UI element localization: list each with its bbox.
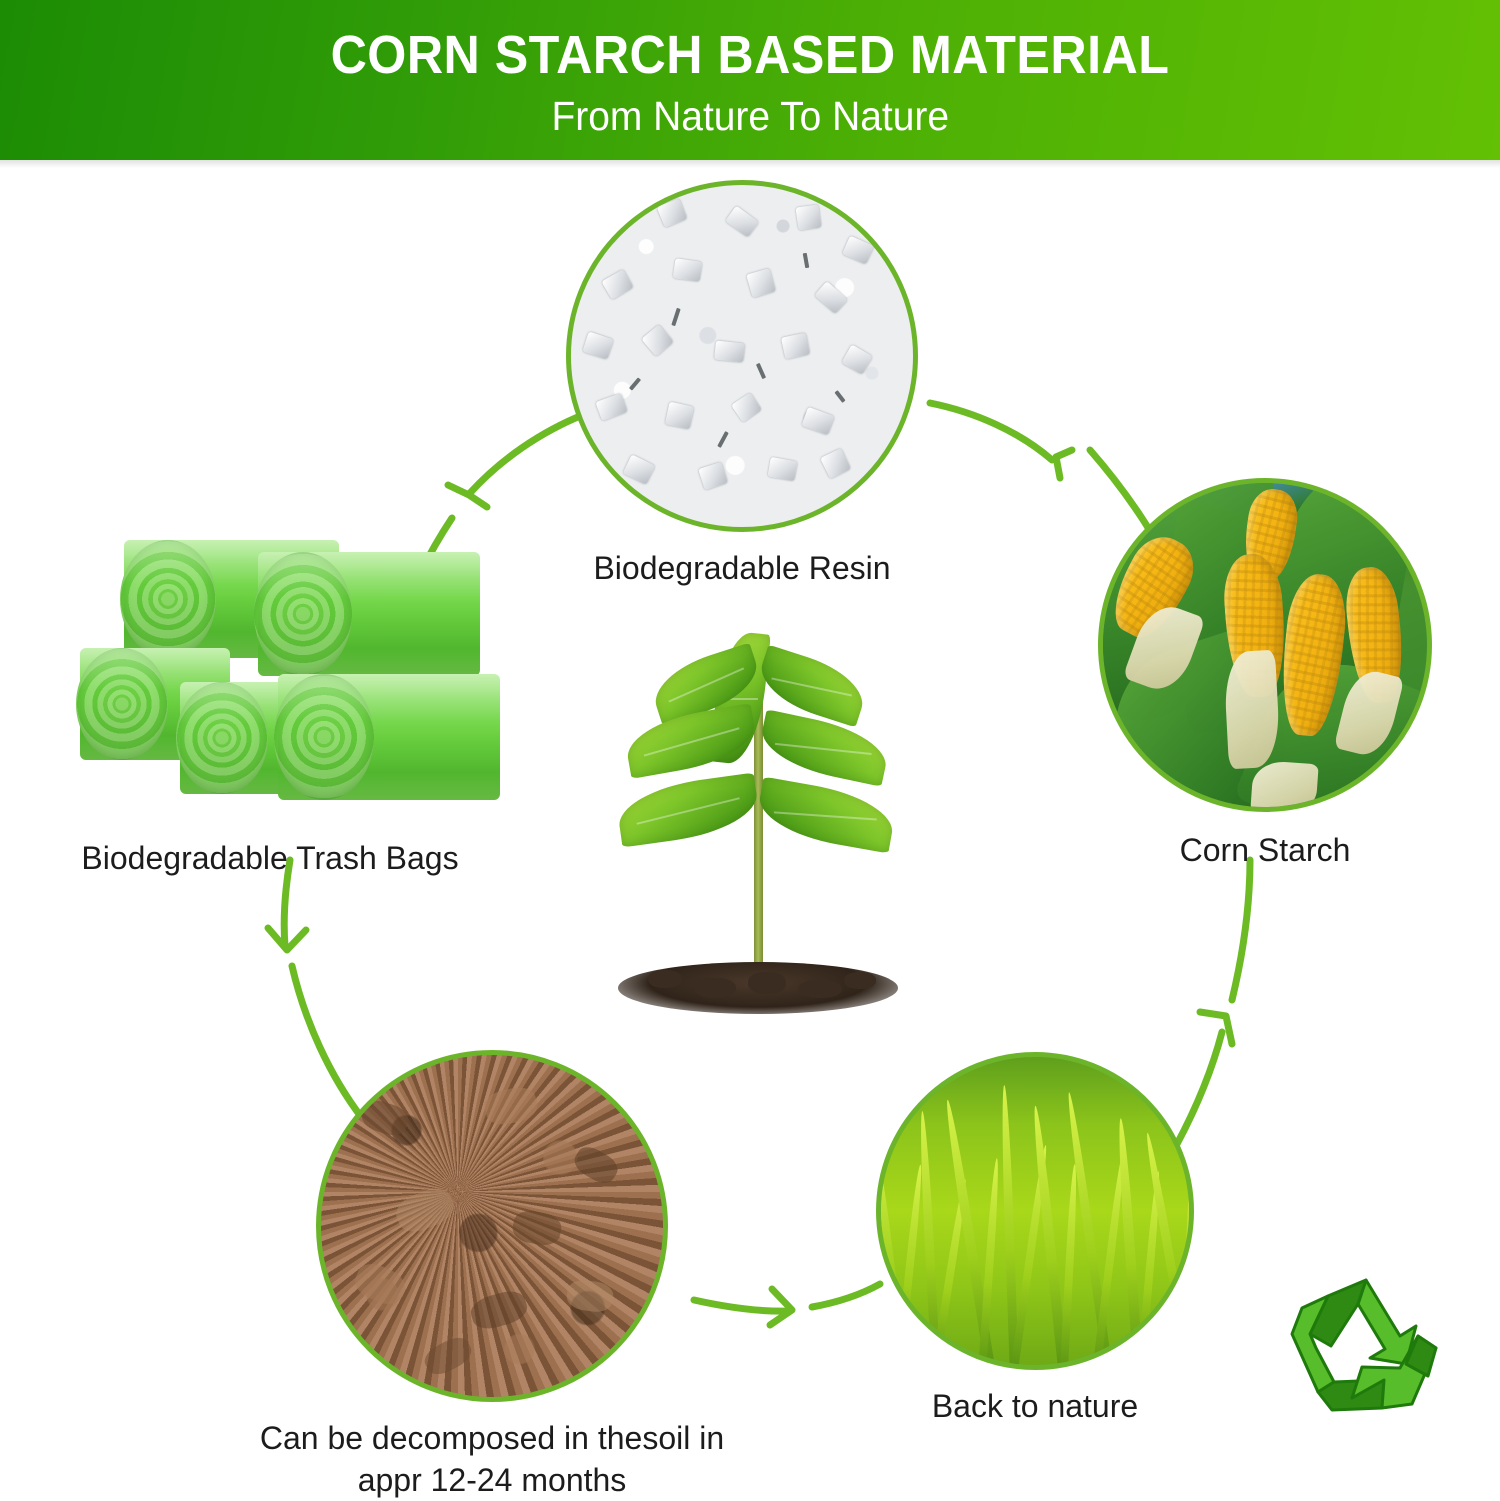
arrow-head-corn-to-resin — [1056, 450, 1072, 478]
caption-decompose-soil-line2: appr 12-24 months — [232, 1460, 752, 1501]
lifecycle-diagram: Biodegradable Resin Corn Starch — [0, 160, 1500, 1482]
page-subtitle: From Nature To Nature — [551, 94, 949, 139]
caption-decompose-soil-line1: Can be decomposed in thesoil in — [232, 1418, 752, 1460]
resin-pellet-texture — [571, 185, 913, 527]
node-back-to-nature[interactable]: Back to nature — [876, 1052, 1194, 1370]
soil-grain-texture — [321, 1055, 663, 1397]
node-biodegradable-resin[interactable]: Biodegradable Resin — [566, 180, 918, 532]
arrow-head-grass-to-corn — [1200, 1012, 1232, 1044]
resin-image — [566, 180, 918, 532]
caption-biodegradable-trash-bags: Biodegradable Trash Bags — [81, 838, 458, 878]
arrow-path-corn-to-resin — [930, 403, 1052, 460]
corn-image — [1098, 478, 1432, 812]
recycle-badge[interactable] — [1288, 1272, 1448, 1422]
seedling-graphic — [608, 622, 908, 1012]
header-banner: CORN STARCH BASED MATERIAL From Nature T… — [0, 0, 1500, 160]
arrow-path-soil-to-grass — [694, 1300, 790, 1311]
grass-blade-texture — [876, 1052, 1194, 1370]
caption-biodegradable-resin: Biodegradable Resin — [593, 548, 890, 588]
grass-image — [876, 1052, 1194, 1370]
caption-decompose-soil: Can be decomposed in thesoil in appr 12-… — [232, 1418, 752, 1501]
recycle-icon — [1288, 1272, 1448, 1422]
arrow-path-grass-to-corn-tail — [1232, 860, 1250, 1000]
node-decompose-soil[interactable]: Can be decomposed in thesoil in appr 12-… — [316, 1050, 668, 1402]
arrow-path-soil-to-grass-tail — [812, 1284, 880, 1307]
trash-bag-rolls-image — [72, 530, 532, 830]
caption-corn-starch: Corn Starch — [1180, 830, 1351, 870]
page-title: CORN STARCH BASED MATERIAL — [331, 27, 1170, 84]
arrow-head-resin-to-bags — [448, 485, 487, 507]
soil-image — [316, 1050, 668, 1402]
caption-back-to-nature: Back to nature — [932, 1386, 1138, 1426]
node-corn-starch[interactable]: Corn Starch — [1098, 478, 1432, 812]
arrow-head-soil-to-grass — [770, 1289, 792, 1325]
trash-bag-roll — [278, 674, 500, 800]
trash-bag-roll — [258, 552, 480, 676]
